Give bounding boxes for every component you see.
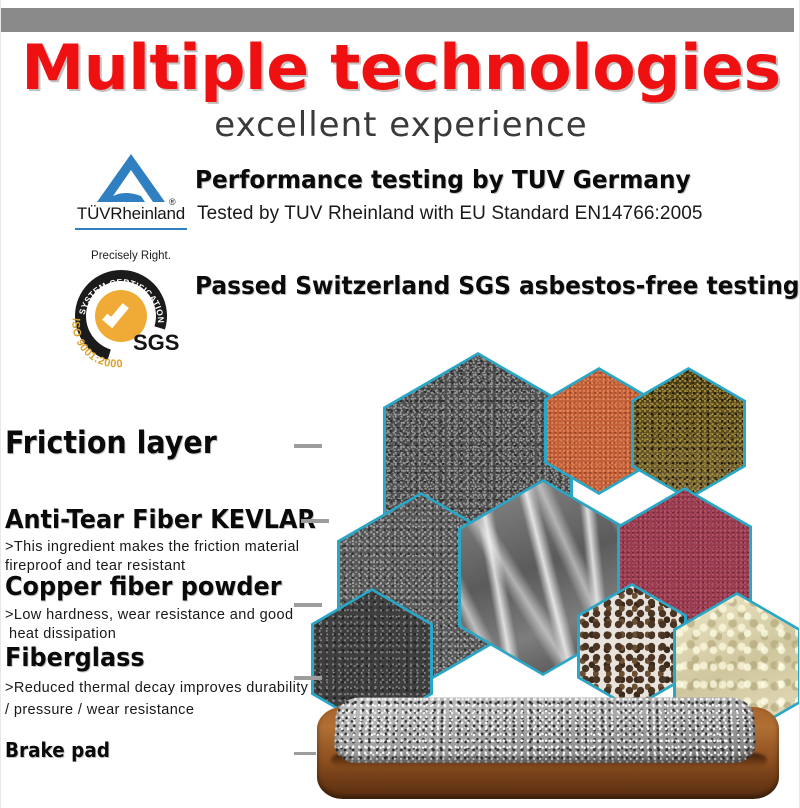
page-title: Multiple technologies — [0, 36, 800, 100]
certification-subtext-tuv: Tested by TUV Rheinland with EU Standard… — [197, 203, 703, 225]
layer-label-brake-pad: Brake pad — [5, 738, 110, 762]
tuv-wordmark: TÜVRheinland — [73, 204, 189, 224]
layer-label-friction-layer: Friction layer — [5, 425, 217, 461]
infographic-page: Multiple technologies excellent experien… — [0, 0, 800, 808]
connector-dash-brake-pad — [294, 752, 316, 755]
layer-label-copper-fiber-powder: Copper fiber powder — [5, 572, 282, 602]
certification-heading-sgs: Passed Switzerland SGS asbestos-free tes… — [195, 272, 800, 300]
tuv-triangle-icon — [95, 152, 167, 204]
connector-dash-copper-fiber-powder — [294, 603, 322, 607]
tuv-underline — [75, 228, 187, 230]
certification-heading-tuv: Performance testing by TUV Germany — [195, 166, 691, 194]
tuv-tagline: Precisely Right. — [73, 250, 189, 262]
brake-pad-photo — [317, 697, 779, 805]
layer-description-fiberglass-line2: / pressure / wear resistance — [5, 698, 194, 723]
brake-pad-friction-surface — [333, 697, 756, 763]
connector-dash-anti-tear-fiber-kevlar — [301, 519, 329, 523]
material-hexagon-kevlar-fiber-granule — [631, 367, 746, 500]
layer-label-fiberglass: Fiberglass — [5, 643, 145, 673]
connector-dash-friction-layer — [294, 444, 322, 448]
page-subtitle: excellent experience — [1, 106, 800, 144]
sgs-iso-certification-badge: SYSTEM CERTIFICATION ISO 9001:2000 SGS — [69, 268, 189, 364]
layer-label-anti-tear-fiber-kevlar: Anti-Tear Fiber KEVLAR — [5, 505, 316, 535]
tuv-rheinland-logo: ® TÜVRheinland — [73, 152, 189, 244]
sgs-brand-text: SGS — [133, 330, 179, 356]
checkmark-icon — [102, 300, 129, 328]
top-accent-bar — [1, 8, 794, 32]
